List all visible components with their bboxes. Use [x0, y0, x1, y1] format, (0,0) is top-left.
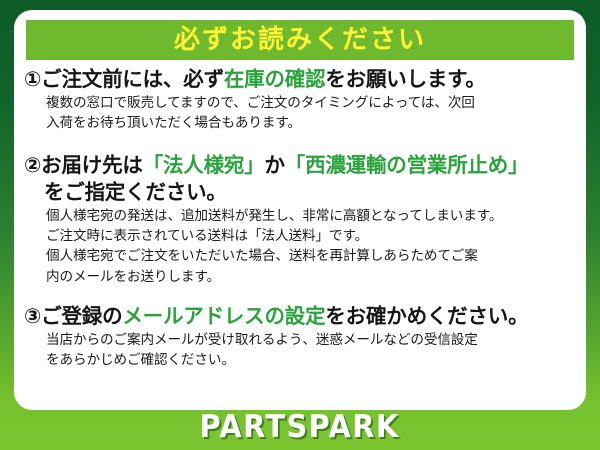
notice-body-2-line-1: 個人様宅宛の発送は、追加送料が発生し、非常に高額となってしまいます。: [24, 207, 578, 226]
notice-heading-1-highlight: 在庫の確認: [224, 67, 326, 91]
notice-heading-1-part-3: をお願いします。: [325, 67, 485, 91]
notice-title-band: 必ずお読みください: [26, 20, 574, 60]
notice-item-2: ②お届け先は「法人様宛」か「西濃運輸の営業所止め」 をご指定ください。 個人様宅…: [24, 152, 578, 287]
notice-heading-3-part-3: をお確かめください。: [325, 304, 528, 328]
notice-content: ①ご注文前には、必ず在庫の確認をお願いします。 複数の窓口で販売してますので、ご…: [14, 66, 586, 373]
brand-logo: PARTSPARK: [200, 412, 400, 443]
notice-heading-2: ②お届け先は「法人様宛」か「西濃運輸の営業所止め」: [24, 152, 578, 179]
notice-heading-2-highlight-2: 「西濃運輸の営業所止め」: [285, 153, 529, 177]
footer-logo-area: PARTSPARK: [0, 404, 600, 450]
notice-marker-3: ③: [24, 304, 41, 328]
spacer-1: [24, 136, 578, 152]
notice-body-2-line-2: ご注文時に表示されている送料は「法人送料」です。: [24, 227, 578, 246]
notice-heading-2-highlight-1: 「法人様宛」: [143, 153, 265, 177]
notice-body-1-line-1: 複数の窓口で販売してますので、ご注文のタイミングによっては、次回: [24, 94, 578, 113]
notice-heading-3: ③ご登録のメールアドレスの設定をお確かめください。: [24, 303, 578, 330]
spacer-2: [24, 289, 578, 303]
notice-heading-1-part-1: ご注文前には、必ず: [41, 67, 224, 91]
notice-item-3: ③ご登録のメールアドレスの設定をお確かめください。 当店からのご案内メールが受け…: [24, 303, 578, 371]
notice-body-3-line-2: をあらかじめご確認ください。: [24, 351, 578, 370]
notice-body-2-line-4: 内のメールをお送りします。: [24, 268, 578, 287]
notice-title: 必ずお読みください: [174, 27, 426, 53]
notice-heading-2-part-3: か: [264, 153, 284, 177]
notice-heading-2-line-2: をご指定ください。: [24, 179, 578, 206]
notice-card: 必ずお読みください ①ご注文前には、必ず在庫の確認をお願いします。 複数の窓口で…: [14, 10, 586, 410]
notice-heading-3-highlight: メールアドレスの設定: [122, 304, 325, 328]
notice-banner: 必ずお読みください ①ご注文前には、必ず在庫の確認をお願いします。 複数の窓口で…: [0, 0, 600, 450]
notice-marker-2: ②: [24, 153, 41, 177]
notice-heading-3-part-1: ご登録の: [41, 304, 122, 328]
notice-body-1-line-2: 入荷をお待ち頂いただく場合もあります。: [24, 114, 578, 133]
notice-heading-2-part-1: お届け先は: [41, 153, 143, 177]
notice-body-3-line-1: 当店からのご案内メールが受け取れるよう、迷惑メールなどの受信設定: [24, 331, 578, 350]
notice-body-2-line-3: 個人様宅宛でご注文をいただいた場合、送料を再計算しあらためてご案: [24, 247, 578, 266]
notice-item-1: ①ご注文前には、必ず在庫の確認をお願いします。 複数の窓口で販売してますので、ご…: [24, 66, 578, 134]
notice-heading-1: ①ご注文前には、必ず在庫の確認をお願いします。: [24, 66, 578, 93]
notice-marker-1: ①: [24, 67, 41, 91]
